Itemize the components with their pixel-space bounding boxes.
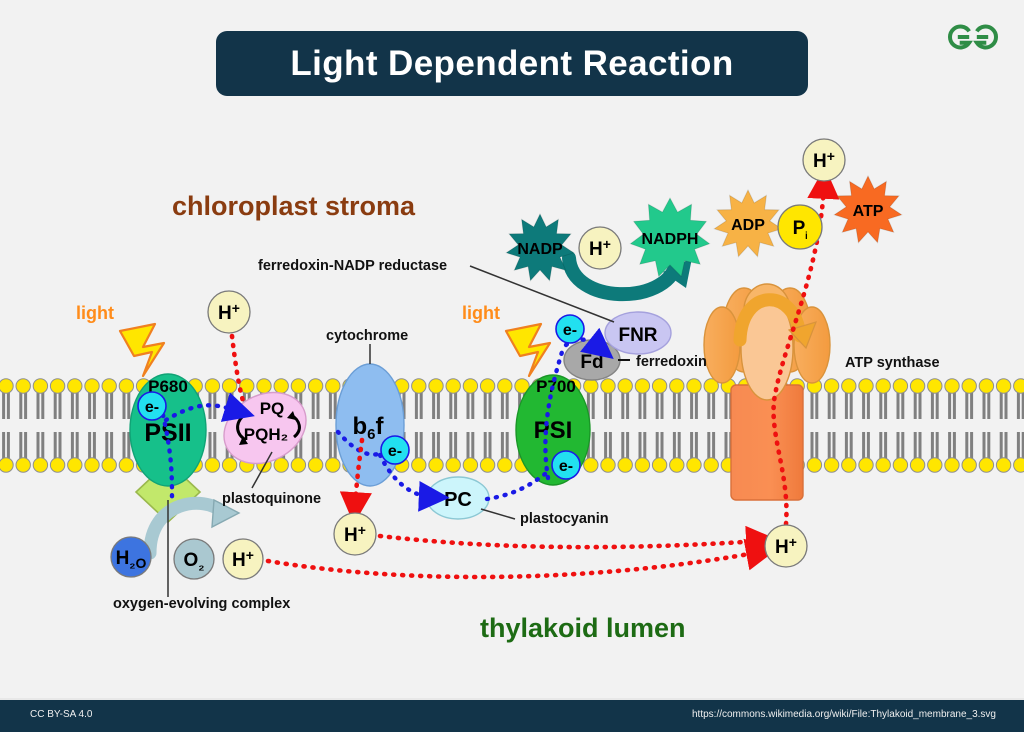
lipid-head <box>842 379 856 393</box>
lipid-head <box>429 458 443 472</box>
lipid-head <box>291 379 305 393</box>
pc-label: PC <box>444 489 472 511</box>
lipid-head <box>859 458 873 472</box>
lipid-head <box>928 458 942 472</box>
lipid-head <box>257 379 271 393</box>
light-label-psi: light <box>462 303 500 323</box>
molecule-h_b6f[interactable]: H+ <box>334 513 376 555</box>
lipid-head <box>291 458 305 472</box>
lipid-head <box>50 458 64 472</box>
molecule-h_oec[interactable]: H+ <box>223 539 263 579</box>
lipid-head <box>16 379 30 393</box>
stroma-label: chloroplast stroma <box>172 191 416 221</box>
electron-e-psi[interactable]: e- <box>552 451 580 479</box>
lipid-head <box>480 458 494 472</box>
complex-plastocyanin[interactable]: PC <box>427 477 515 519</box>
light-label-psii: light <box>76 303 114 323</box>
electron-e-psii[interactable]: e- <box>138 392 166 420</box>
molecule-h_atp[interactable]: H+ <box>803 139 845 181</box>
light-bolt-psii <box>120 324 164 376</box>
lipid-head <box>446 458 460 472</box>
atp-label: ATP <box>853 203 884 220</box>
molecule-nadp[interactable]: NADP <box>506 214 573 281</box>
lipid-head <box>68 379 82 393</box>
lipid-head <box>463 379 477 393</box>
electron-label: e- <box>388 443 402 460</box>
nadp-label: NADP <box>517 241 563 258</box>
lipid-head <box>85 379 99 393</box>
page-title: Light Dependent Reaction <box>290 44 733 84</box>
lipid-head <box>274 379 288 393</box>
lipid-head <box>0 458 13 472</box>
lipid-head <box>33 458 47 472</box>
cytochrome-caption: cytochrome <box>326 328 408 344</box>
molecule-pi[interactable]: Pᵢ <box>778 205 822 249</box>
source-url[interactable]: https://commons.wikimedia.org/wiki/File:… <box>692 709 996 720</box>
complex-psii[interactable]: P680 PSII <box>130 374 206 486</box>
lipid-head <box>859 379 873 393</box>
lipid-head <box>618 458 632 472</box>
lipid-head <box>910 379 924 393</box>
lipid-head <box>962 379 976 393</box>
lumen-label: thylakoid lumen <box>480 613 686 643</box>
lipid-head <box>205 458 219 472</box>
molecule-nadph[interactable]: NADPH <box>630 198 709 276</box>
electron-label: e- <box>559 458 573 475</box>
lipid-head <box>618 379 632 393</box>
electron-label: e- <box>563 322 577 339</box>
molecule-o2[interactable]: O₂ <box>174 539 214 579</box>
lipid-head <box>945 458 959 472</box>
molecule-h_fnr[interactable]: H+ <box>579 227 621 269</box>
lipid-head <box>102 379 116 393</box>
page-title-banner: Light Dependent Reaction <box>216 31 808 96</box>
lipid-head <box>205 379 219 393</box>
lipid-head <box>498 379 512 393</box>
electron-e-fnr[interactable]: e- <box>556 315 584 343</box>
lipid-head <box>635 458 649 472</box>
lipid-head <box>601 458 615 472</box>
lipid-head <box>308 379 322 393</box>
lipid-head <box>68 458 82 472</box>
carrier-fnr[interactable]: FNR <box>605 312 671 354</box>
lipid-head <box>412 458 426 472</box>
pi-label: Pᵢ <box>793 218 808 241</box>
lipid-head <box>584 379 598 393</box>
lipid-head <box>119 379 133 393</box>
lipid-head <box>119 458 133 472</box>
lipid-head <box>704 458 718 472</box>
lipid-head <box>824 458 838 472</box>
fd-label: Fd <box>580 352 603 373</box>
pq-label: PQ <box>260 399 285 418</box>
lipid-head <box>308 458 322 472</box>
plastoquinone-caption: plastoquinone <box>222 491 321 507</box>
lipid-head <box>842 458 856 472</box>
oec-caption: oxygen-evolving complex <box>113 596 290 612</box>
lipid-head <box>979 458 993 472</box>
lipid-head <box>326 379 340 393</box>
lipid-head <box>910 458 924 472</box>
lipid-head <box>652 379 666 393</box>
lipid-head <box>50 379 64 393</box>
fnr-caption: ferredoxin-NADP reductase <box>258 258 447 274</box>
lipid-head <box>222 458 236 472</box>
molecule-adp[interactable]: ADP <box>714 190 781 257</box>
molecule-h_lumen[interactable]: H+ <box>765 525 807 567</box>
lipid-head <box>687 458 701 472</box>
lipid-head <box>480 379 494 393</box>
lipid-head <box>687 379 701 393</box>
lipid-head <box>85 458 99 472</box>
lipid-head <box>996 458 1010 472</box>
lipid-head <box>222 379 236 393</box>
lipid-head <box>584 458 598 472</box>
lipid-head <box>16 458 30 472</box>
lipid-head <box>807 458 821 472</box>
lipid-head <box>1014 379 1024 393</box>
psi-label: PSI <box>534 417 573 444</box>
adp-label: ADP <box>731 217 765 234</box>
lipid-head <box>876 379 890 393</box>
lipid-head <box>463 458 477 472</box>
lipid-head <box>962 458 976 472</box>
molecule-atp[interactable]: ATP <box>834 176 901 243</box>
lipid-head <box>996 379 1010 393</box>
light-bolt-psi <box>506 324 550 376</box>
pqh2-label: PQH₂ <box>244 425 288 444</box>
plastocyanin-caption: plastocyanin <box>520 511 609 527</box>
diagram-page: P680 PSII PQ PQH₂ b6f P700 PSI <box>0 0 1024 732</box>
lipid-head <box>670 458 684 472</box>
electron-label: e- <box>145 399 159 416</box>
fnr-label: FNR <box>618 325 657 346</box>
nadph-label: NADPH <box>642 231 699 248</box>
lipid-head <box>429 379 443 393</box>
lipid-head <box>893 379 907 393</box>
lipid-head <box>652 458 666 472</box>
electron-e-b6f[interactable]: e- <box>381 436 409 464</box>
light-dependent-reaction-diagram: P680 PSII PQ PQH₂ b6f P700 PSI <box>0 0 1024 732</box>
molecule-h2o[interactable]: H₂O <box>111 537 151 577</box>
lipid-head <box>446 379 460 393</box>
lipid-head <box>945 379 959 393</box>
lipid-head <box>326 458 340 472</box>
atp-synthase-caption: ATP synthase <box>845 355 940 371</box>
lipid-head <box>412 379 426 393</box>
molecule-h_psii[interactable]: H+ <box>208 291 250 333</box>
lipid-head <box>33 379 47 393</box>
lipid-head <box>102 458 116 472</box>
lipid-head <box>979 379 993 393</box>
license-text: CC BY-SA 4.0 <box>30 709 92 720</box>
lipid-head <box>498 458 512 472</box>
ferredoxin-caption: ferredoxin <box>636 354 707 370</box>
lipid-head <box>893 458 907 472</box>
lipid-head <box>876 458 890 472</box>
lipid-head <box>928 379 942 393</box>
lipid-head <box>0 379 13 393</box>
lipid-head <box>601 379 615 393</box>
lipid-head <box>1014 458 1024 472</box>
lipid-head <box>824 379 838 393</box>
page-footer: CC BY-SA 4.0 https://commons.wikimedia.o… <box>0 698 1024 732</box>
geeksforgeeks-logo[interactable] <box>944 18 1002 56</box>
lipid-head <box>635 379 649 393</box>
lipid-head <box>670 379 684 393</box>
